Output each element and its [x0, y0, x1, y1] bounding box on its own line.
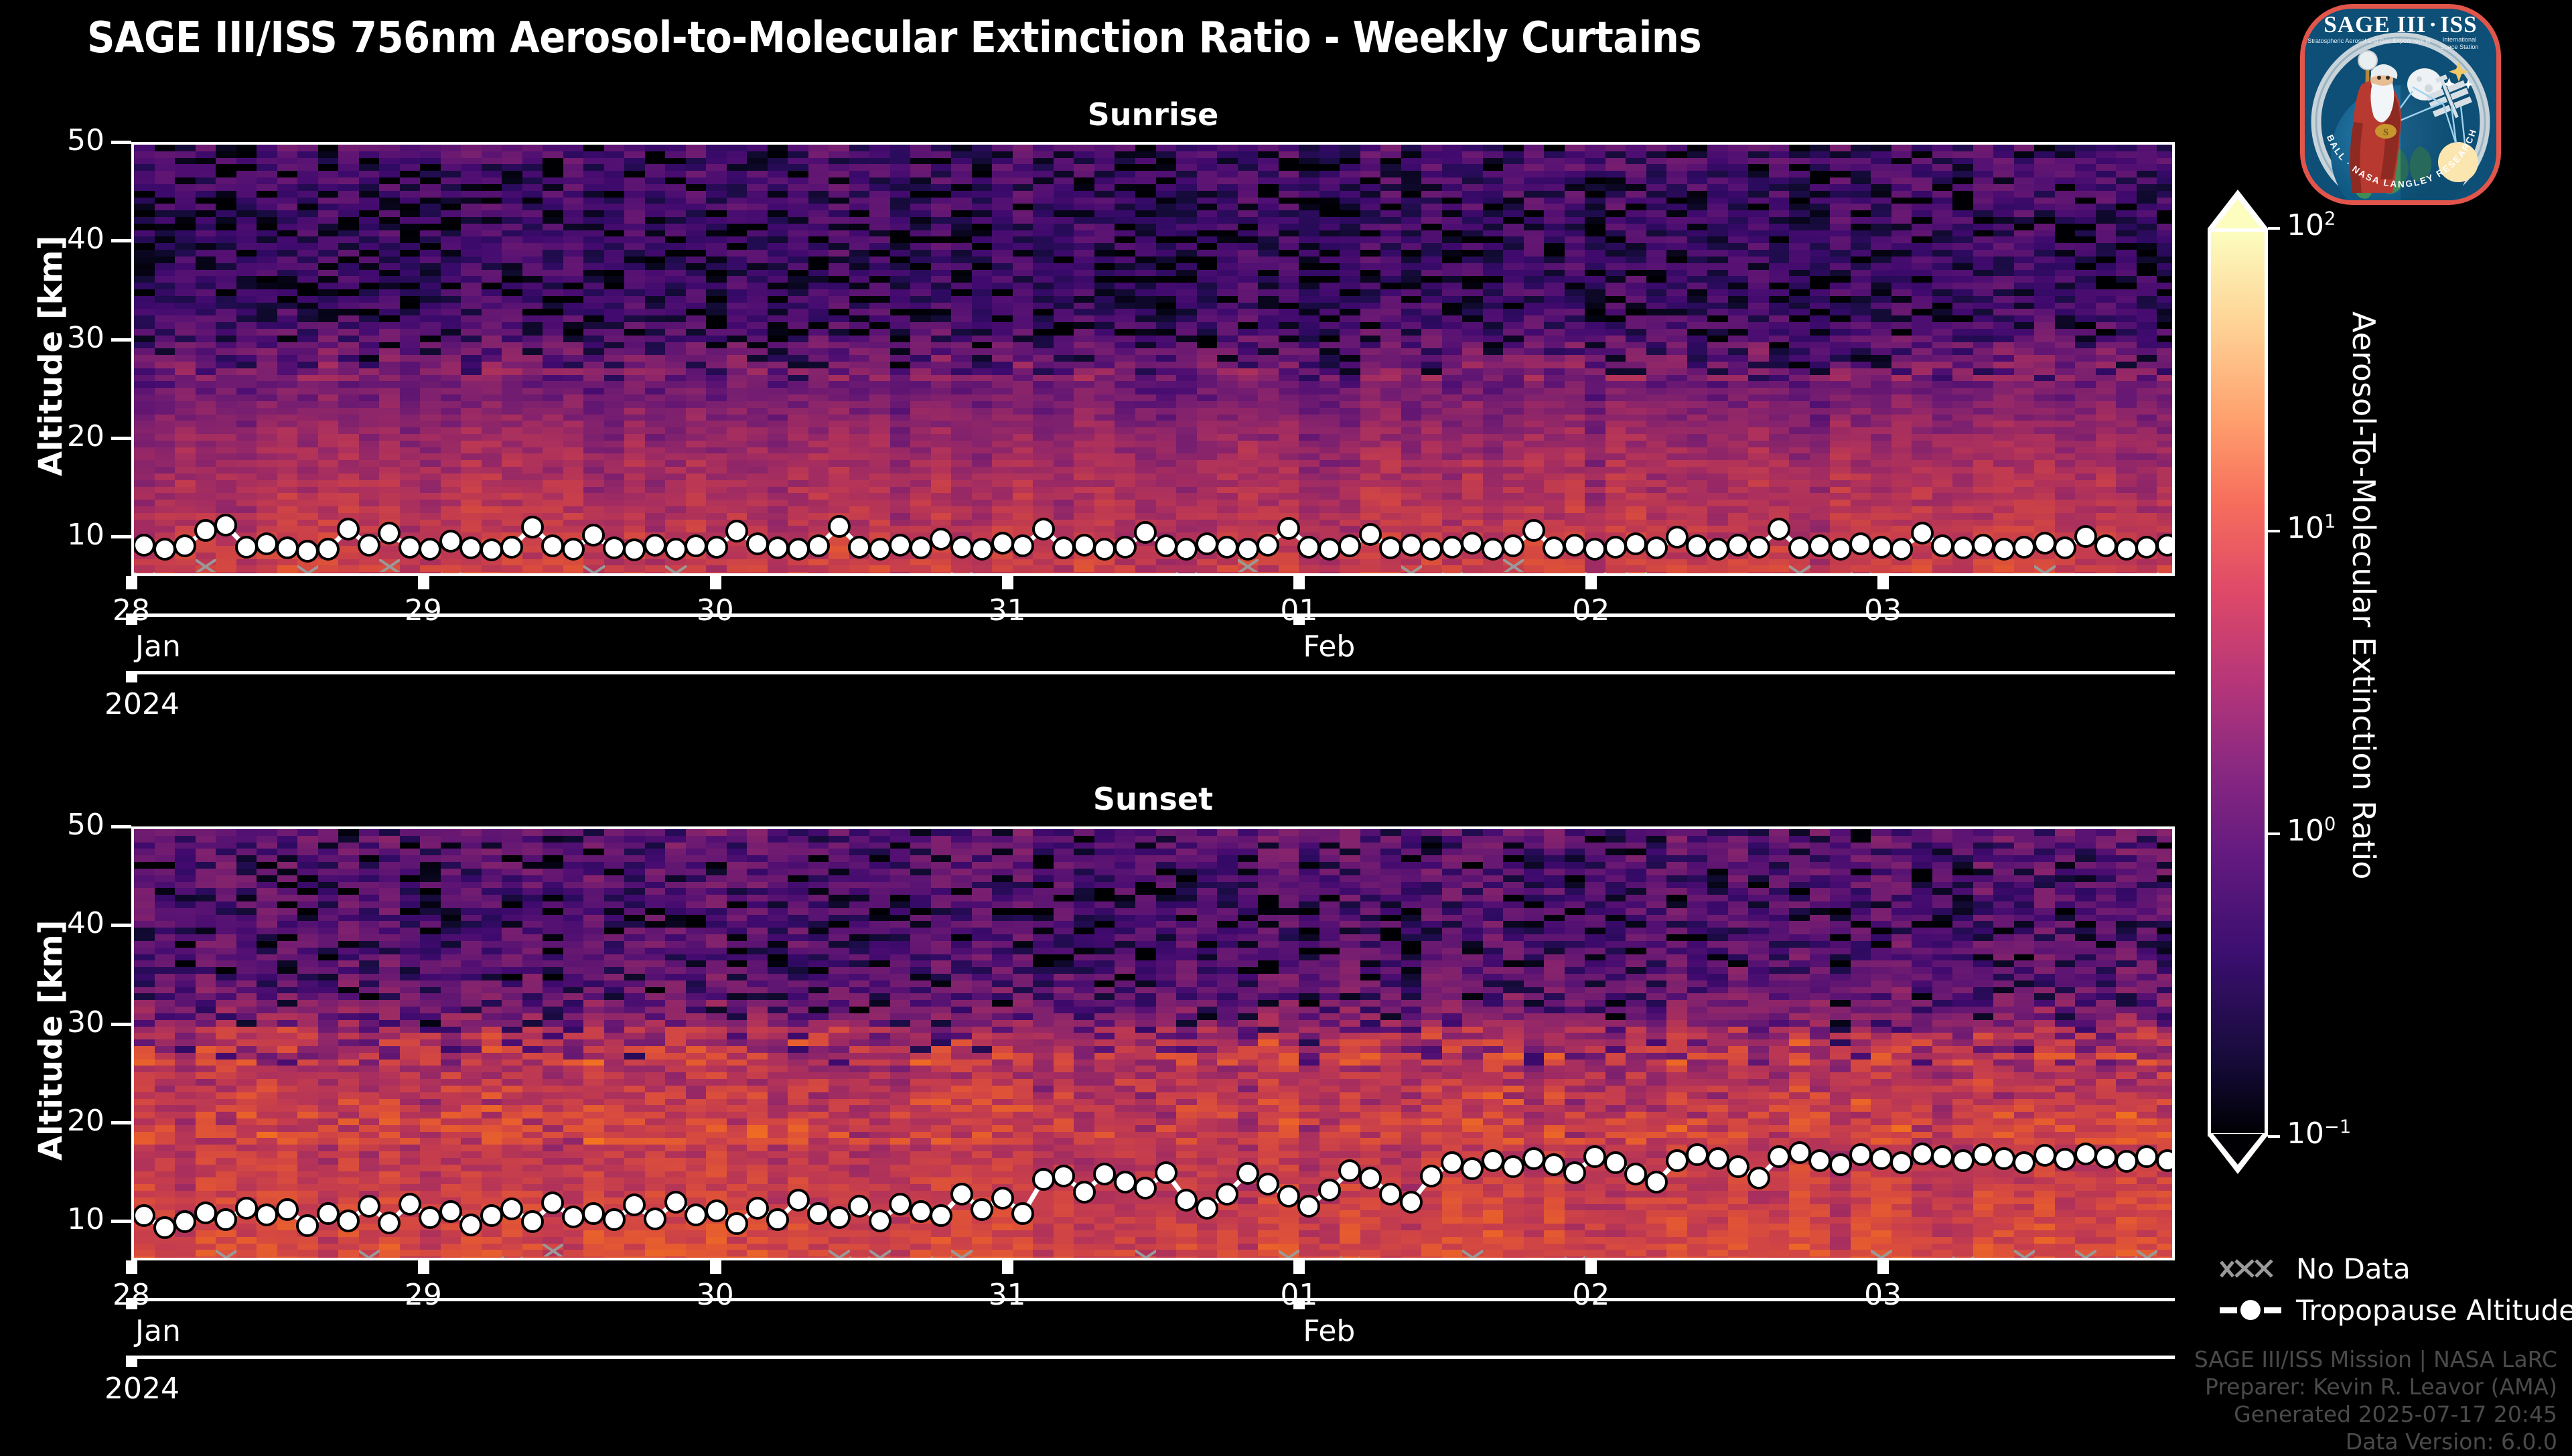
heatmap-cell	[1054, 572, 1074, 576]
heatmap-cell	[257, 572, 277, 576]
sage-iii-iss-mission-patch-logo: S SAGE III·ISS Stratospheric Aerosol and…	[2300, 4, 2501, 205]
heatmap-cell	[1421, 572, 1442, 576]
heatmap-cell	[1197, 572, 1218, 576]
logo-artwork: S SAGE III·ISS Stratospheric Aerosol and…	[2300, 4, 2501, 205]
heatmap-cell	[972, 572, 993, 576]
heatmap-cell	[1360, 572, 1381, 576]
heatmap-sunrise	[131, 142, 2175, 576]
heatmap-cell	[808, 572, 829, 576]
y-tick-sunrise-30: 30	[31, 321, 104, 355]
heatmap-cell	[1524, 572, 1545, 576]
y-tick-sunrise-50: 50	[31, 123, 104, 157]
heatmap-cell	[1217, 572, 1238, 576]
heatmap-cell	[522, 572, 543, 576]
heatmap-cell	[1033, 572, 1054, 576]
heatmap-cell	[461, 572, 482, 576]
heatmap-cell	[1094, 572, 1115, 576]
logo-patch-background: S SAGE III·ISS Stratospheric Aerosol and…	[2300, 4, 2501, 205]
y-tick-mark	[111, 338, 131, 342]
heatmap-cell	[768, 572, 788, 576]
y-tick-mark	[111, 141, 131, 144]
heatmap-cell	[1156, 572, 1177, 576]
y-tick-mark	[111, 535, 131, 538]
heatmap-cell	[1135, 572, 1156, 576]
heatmap-cell	[216, 572, 236, 576]
heatmap-cell	[543, 572, 563, 576]
y-tick-mark	[111, 437, 131, 440]
heatmap-cell	[1013, 572, 1033, 576]
heatmap-cell	[1074, 572, 1094, 576]
y-tick-sunrise-40: 40	[31, 222, 104, 256]
heatmap-cell	[379, 572, 400, 576]
heatmap-cell	[236, 572, 257, 576]
heatmap-cell	[1544, 572, 1565, 576]
heatmap-cell	[1380, 572, 1401, 576]
heatmap-cell	[910, 572, 931, 576]
y-tick-sunrise-10: 10	[31, 518, 104, 552]
heatmap-cell	[645, 572, 666, 576]
heatmap-cell	[829, 572, 849, 576]
heatmap-cell	[931, 572, 952, 576]
heatmap-cell	[788, 572, 808, 576]
heatmap-cell	[686, 572, 707, 576]
y-tick-sunrise-20: 20	[31, 419, 104, 453]
heatmap-cell	[175, 572, 196, 576]
heatmap-cell	[318, 572, 339, 576]
heatmap-cell	[1605, 572, 1626, 576]
heatmap-cell	[1565, 572, 1585, 576]
heatmap-cell	[1238, 572, 1259, 576]
page-title: SAGE III/ISS 756nm Aerosol-to-Molecular …	[87, 13, 1701, 63]
heatmap-cell	[1115, 572, 1135, 576]
panel-title-sunrise: Sunrise	[131, 96, 2175, 133]
heatmap-cell	[727, 572, 747, 576]
heatmap-cell	[1462, 572, 1483, 576]
heatmap-cell	[1340, 572, 1360, 576]
heatmap-cell	[277, 572, 298, 576]
y-tick-mark	[111, 239, 131, 242]
heatmap-cell	[502, 572, 522, 576]
heatmap-cell	[1258, 572, 1279, 576]
heatmap-cell	[196, 572, 216, 576]
heatmap-cell	[1319, 572, 1340, 576]
heatmap-cell	[890, 572, 911, 576]
heatmap-cell	[482, 572, 502, 576]
heatmap-cell	[563, 572, 584, 576]
heatmap-cells	[134, 145, 2172, 573]
heatmap-cell	[849, 572, 870, 576]
heatmap-cell	[604, 572, 625, 576]
heatmap-cell	[624, 572, 645, 576]
heatmap-cell	[1646, 572, 1667, 576]
heatmap-cell	[338, 572, 359, 576]
heatmap-cell	[747, 572, 768, 576]
heatmap-cell	[359, 572, 380, 576]
heatmap-cell	[1483, 572, 1504, 576]
heatmap-cell	[1503, 572, 1524, 576]
heatmap-cell	[155, 572, 175, 576]
heatmap-cell	[869, 572, 890, 576]
